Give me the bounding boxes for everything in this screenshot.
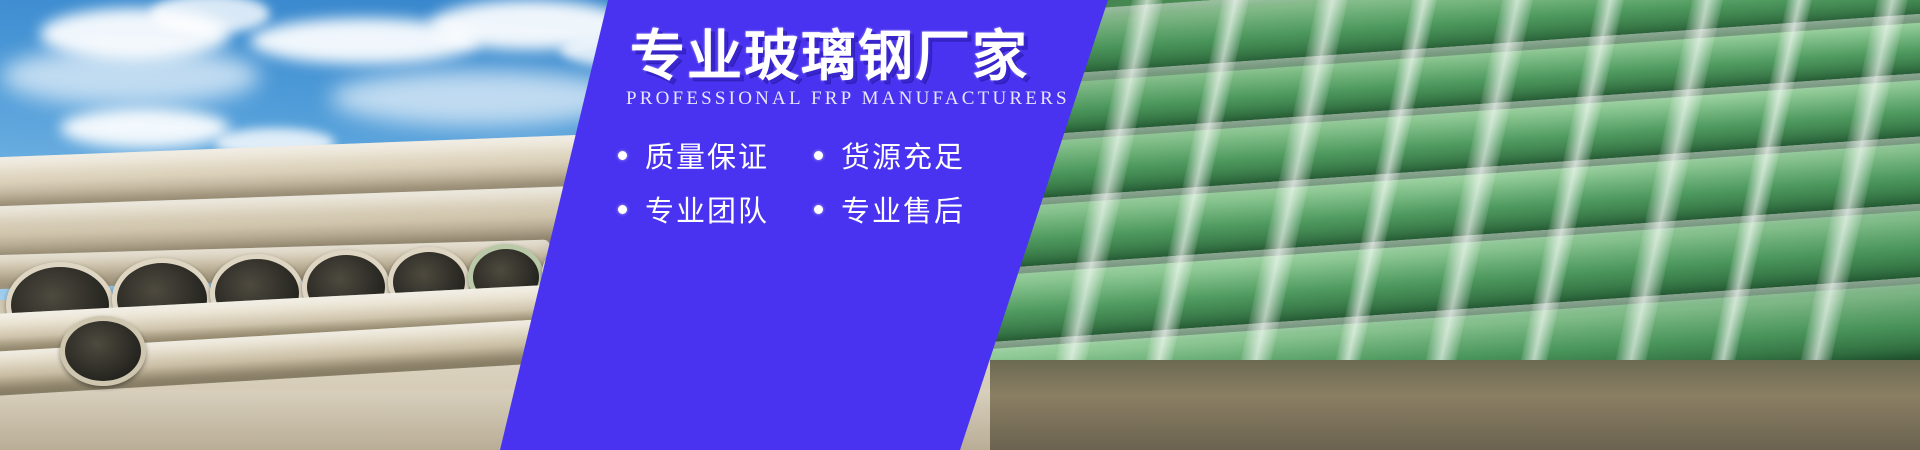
dot-bullet-icon bbox=[618, 205, 627, 214]
right-photo-green-frp-pipes bbox=[990, 0, 1920, 450]
dot-bullet-icon bbox=[618, 151, 627, 160]
frp-promo-banner: 专业玻璃钢厂家 PROFESSIONAL FRP MANUFACTURERS 质… bbox=[0, 0, 1920, 450]
ground-dirt bbox=[990, 360, 1920, 450]
subtitle-english: PROFESSIONAL FRP MANUFACTURERS bbox=[626, 88, 1070, 110]
cloud-shape bbox=[60, 108, 230, 148]
feature-item-supply: 货源充足 bbox=[814, 128, 965, 182]
bullet-row: 专业团队 专业售后 bbox=[618, 182, 1018, 236]
cloud-shape bbox=[0, 46, 260, 106]
feature-label: 货源充足 bbox=[841, 134, 965, 176]
bullet-row: 质量保证 货源充足 bbox=[618, 128, 1018, 182]
dot-bullet-icon bbox=[814, 205, 823, 214]
frp-pipe-opening bbox=[60, 316, 146, 386]
feature-item-quality: 质量保证 bbox=[618, 128, 814, 182]
page-title: 专业玻璃钢厂家 bbox=[630, 26, 1029, 86]
feature-label: 专业团队 bbox=[645, 188, 769, 230]
feature-bullet-grid: 质量保证 货源充足 专业团队 专业售后 bbox=[618, 128, 1018, 236]
feature-label: 专业售后 bbox=[841, 188, 965, 230]
dot-bullet-icon bbox=[814, 151, 823, 160]
feature-item-aftersales: 专业售后 bbox=[814, 182, 965, 236]
feature-item-team: 专业团队 bbox=[618, 182, 814, 236]
feature-label: 质量保证 bbox=[645, 134, 769, 176]
panel-content: 专业玻璃钢厂家 PROFESSIONAL FRP MANUFACTURERS 质… bbox=[608, 0, 1128, 450]
